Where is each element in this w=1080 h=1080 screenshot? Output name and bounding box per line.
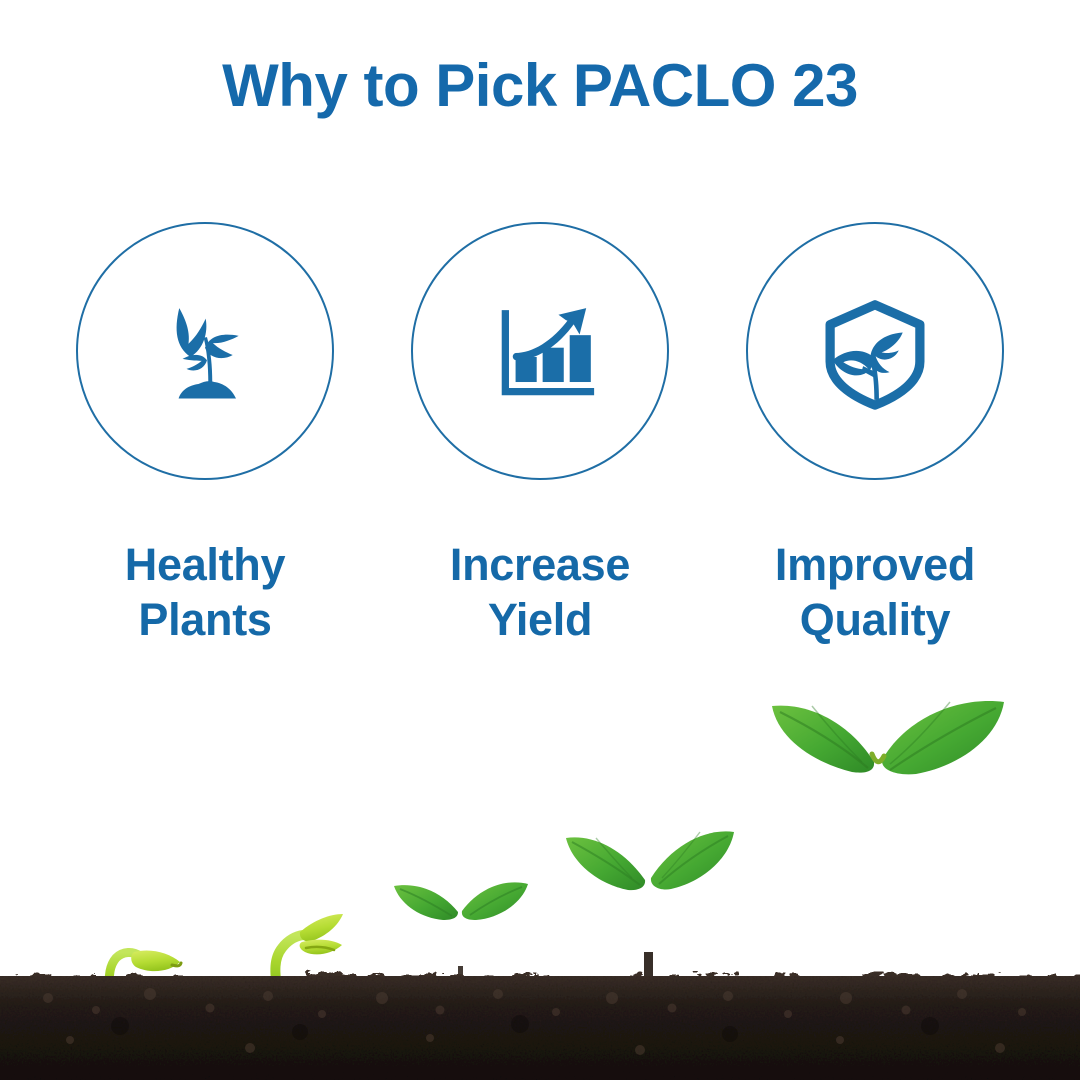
page-title: Why to Pick PACLO 23 <box>0 52 1080 119</box>
shield-leaf-icon <box>809 285 941 417</box>
seedling-stage-5 <box>772 701 1004 1002</box>
feature-increase-yield[interactable]: Increase Yield <box>373 222 708 648</box>
feature-row: Healthy Plants <box>0 222 1080 648</box>
seedling-stage-4 <box>566 831 734 1000</box>
feature-label: Healthy Plants <box>125 538 285 648</box>
feature-healthy-plants[interactable]: Healthy Plants <box>38 222 373 648</box>
feature-icon-circle <box>411 222 669 480</box>
feature-icon-circle <box>746 222 1004 480</box>
feature-label: Increase Yield <box>450 538 630 648</box>
poster-canvas: Why to Pick PACLO 23 <box>0 0 1080 1080</box>
plant-growth-stages-photo <box>0 680 1080 1080</box>
growth-bar-chart-icon <box>474 285 606 417</box>
feature-icon-circle <box>76 222 334 480</box>
soil-layer <box>0 976 1080 1080</box>
feature-improved-quality[interactable]: Improved Quality <box>708 222 1043 648</box>
feature-label: Improved Quality <box>775 538 975 648</box>
seedling-plant-icon <box>139 285 271 417</box>
